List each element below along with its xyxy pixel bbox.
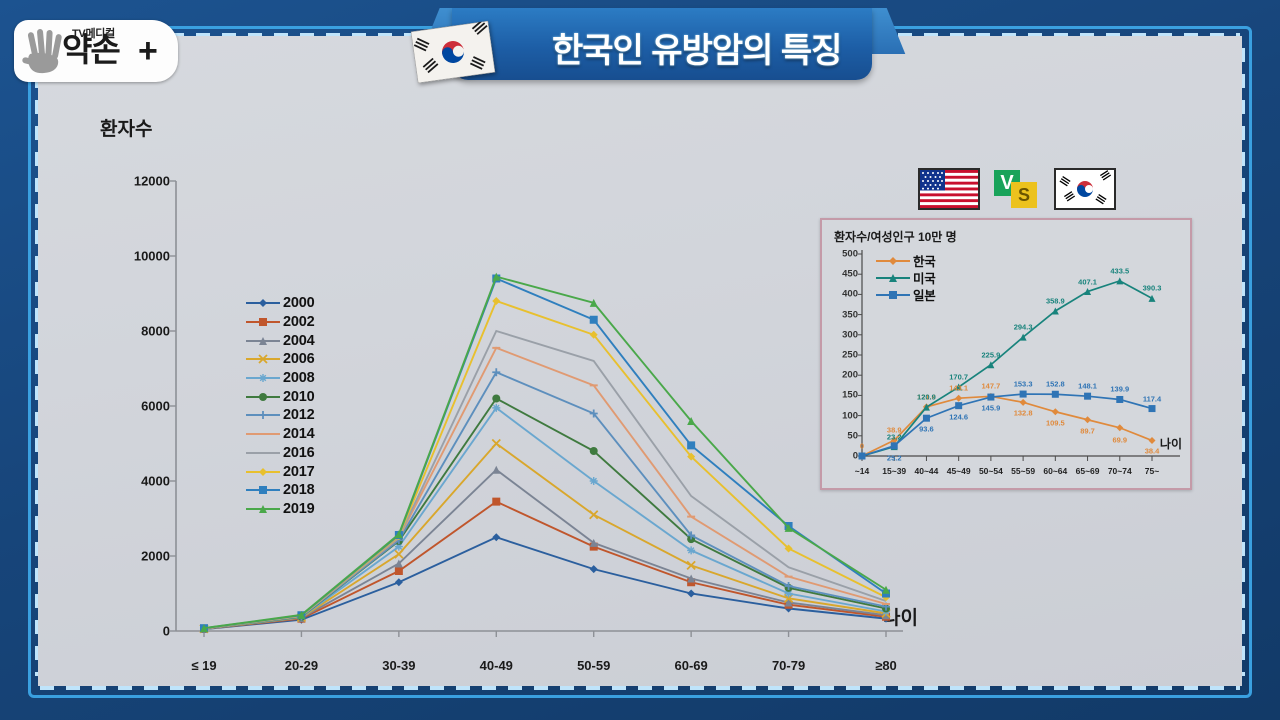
inset-chart: 환자수/여성인구 10만 명 나이 0501001502002503003504…: [820, 218, 1192, 490]
inset-chart-data-label: 69.9: [1112, 435, 1127, 444]
inset-chart-data-label: 89.7: [1080, 426, 1095, 435]
inset-chart-data-label: 93.6: [919, 425, 934, 434]
title-banner: 한국인 유방암의 특징: [452, 8, 872, 80]
main-chart-legend-label: 2014: [283, 426, 314, 442]
main-chart-legend-item: 2006: [246, 350, 338, 369]
inset-chart-data-label: 109.5: [1046, 418, 1065, 427]
inset-chart-data-label: 147.7: [981, 382, 1000, 391]
page-title: 한국인 유방암의 특징: [552, 23, 841, 72]
legend-marker-2004: [246, 334, 280, 348]
legend-marker-2000: [246, 296, 280, 310]
inset-chart-data-label: 407.1: [1078, 277, 1097, 286]
inset-chart-data-label: 294.3: [1014, 323, 1033, 332]
inset-chart-data-label: 433.5: [1110, 266, 1129, 275]
legend-marker-2008: [246, 371, 280, 385]
inset-chart-data-label: 124.6: [949, 412, 968, 421]
main-chart-legend-item: 2002: [246, 313, 338, 332]
main-chart-legend-item: 2000: [246, 294, 338, 313]
inset-chart-data-label: 153.3: [1014, 380, 1033, 389]
inset-chart-data-labels: 038.9121.6143.1147.7132.8109.589.769.938…: [822, 220, 1194, 492]
legend-marker-2012: [246, 408, 280, 422]
main-chart-legend-item: 2019: [246, 500, 338, 519]
main-chart-legend-item: 2018: [246, 481, 338, 500]
channel-logo: TV메디컬 약손 +: [14, 20, 178, 82]
main-chart-legend-item: 2004: [246, 331, 338, 350]
inset-chart-data-label: 390.3: [1143, 284, 1162, 293]
inset-chart-data-label: 358.9: [1046, 297, 1065, 306]
korea-flag-icon: [411, 21, 495, 83]
slide-surface: 환자수 나이 020004000600080001000012000 ≤ 192…: [38, 36, 1242, 686]
main-chart-legend-label: 2004: [283, 333, 314, 349]
inset-chart-data-label: 152.8: [1046, 380, 1065, 389]
logo-title: 약손: [62, 33, 119, 66]
comparison-flags: V S: [918, 168, 1116, 210]
inset-chart-data-label: 145.9: [981, 404, 1000, 413]
korea-flag-icon: [1054, 168, 1116, 210]
inset-chart-data-label: 132.8: [1014, 409, 1033, 418]
inset-chart-data-label: 143.1: [949, 384, 968, 393]
tv-frame: 환자수 나이 020004000600080001000012000 ≤ 192…: [0, 0, 1280, 720]
main-chart-legend-label: 2017: [283, 464, 314, 480]
main-chart-legend-label: 2019: [283, 501, 314, 517]
main-chart-legend-label: 2016: [283, 445, 314, 461]
main-chart-legend-item: 2008: [246, 369, 338, 388]
main-chart-legend-item: 2017: [246, 462, 338, 481]
main-chart-legend-item: 2010: [246, 387, 338, 406]
legend-marker-2019: [246, 502, 280, 516]
inset-chart-data-label: 225.9: [981, 350, 1000, 359]
inset-chart-data-label: 120.9: [917, 393, 936, 402]
legend-marker-2018: [246, 483, 280, 497]
legend-marker-2014: [246, 427, 280, 441]
legend-marker-2010: [246, 390, 280, 404]
inset-chart-data-label: 38.4: [1145, 447, 1160, 456]
legend-marker-2016: [246, 446, 280, 460]
legend-marker-2002: [246, 315, 280, 329]
vs-right-letter: S: [1011, 182, 1037, 208]
main-chart-legend-label: 2000: [283, 295, 314, 311]
vs-badge: V S: [994, 168, 1040, 210]
main-chart-legend-label: 2012: [283, 407, 314, 423]
legend-marker-2017: [246, 465, 280, 479]
inset-chart-data-label: 25.2: [887, 453, 902, 462]
usa-flag-icon: [918, 168, 980, 210]
main-chart-legend-label: 2010: [283, 389, 314, 405]
inset-chart-data-label: 170.7: [949, 373, 968, 382]
inset-chart-data-label: 23.2: [887, 432, 902, 441]
main-chart-legend-label: 2018: [283, 482, 314, 498]
main-chart-legend-item: 2012: [246, 406, 338, 425]
inset-chart-data-label: 139.9: [1110, 385, 1129, 394]
main-chart-legend-item: 2016: [246, 444, 338, 463]
inset-chart-data-label: 0: [860, 442, 864, 451]
legend-marker-2006: [246, 352, 280, 366]
main-chart-legend-label: 2002: [283, 314, 314, 330]
main-chart-legend-item: 2014: [246, 425, 338, 444]
main-chart-legend-label: 2006: [283, 351, 314, 367]
main-chart-legend: 2000200220042006200820102012201420162017…: [246, 294, 338, 518]
inset-chart-data-label: 148.1: [1078, 382, 1097, 391]
logo-plus: +: [138, 34, 158, 68]
inset-chart-data-label: 117.4: [1143, 394, 1161, 403]
main-chart-legend-label: 2008: [283, 370, 314, 386]
